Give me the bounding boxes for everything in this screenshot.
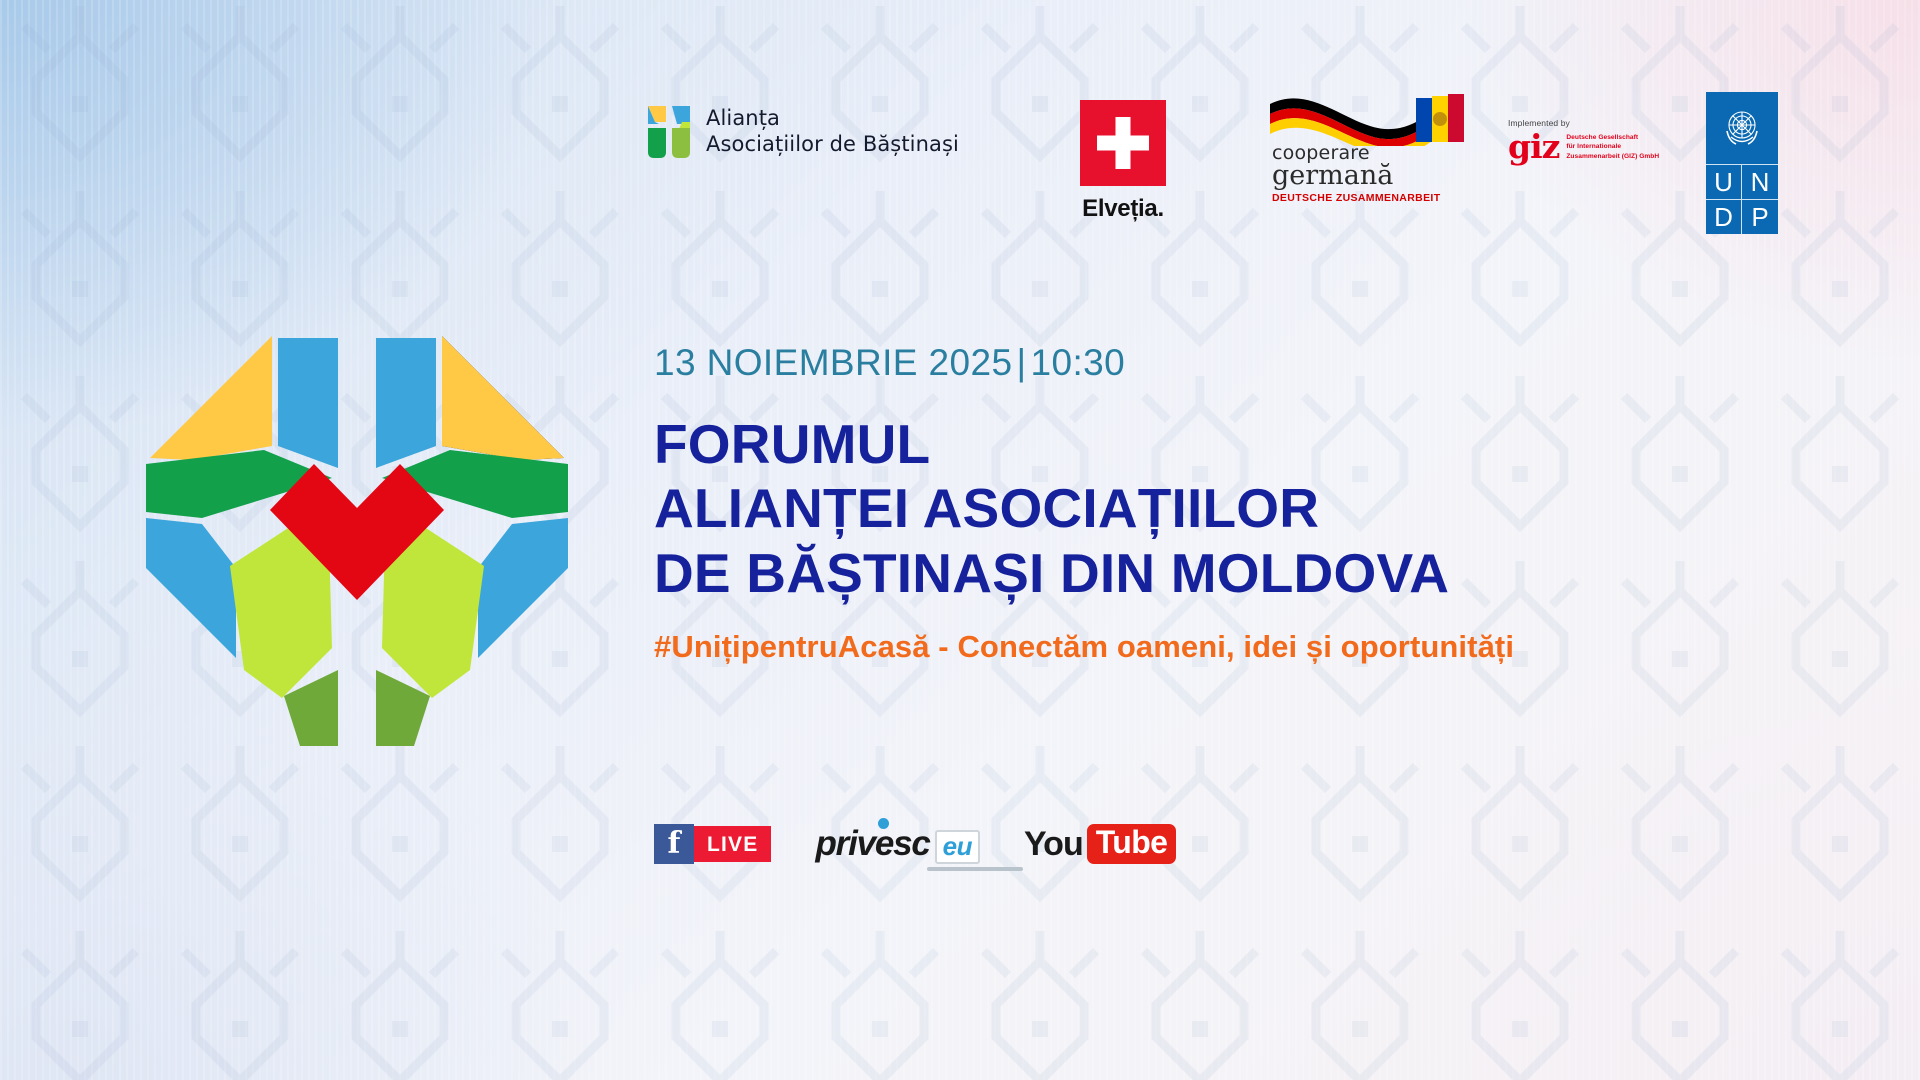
heart-emblem-icon <box>132 318 582 748</box>
page-title: FORUMUL ALIANȚEI ASOCIAȚIILOR DE BĂȘTINA… <box>654 412 1874 605</box>
streaming-platforms: f LIVE privesc eu You Tube <box>654 824 1176 864</box>
facebook-icon: f <box>654 824 694 864</box>
event-date: 13 NOIEMBRIE 2025 <box>654 342 1012 383</box>
swiss-flag-icon <box>1080 100 1166 186</box>
undp-letter-u: U <box>1706 164 1742 199</box>
switzerland-logo[interactable]: Elveția. <box>1080 100 1166 223</box>
title-line-2: ALIANȚEI ASOCIAȚIILOR <box>654 476 1874 540</box>
giz-sub-3: Zusammenarbeit (GIZ) GmbH <box>1566 152 1659 161</box>
giz-sub-2: für Internationale <box>1566 142 1659 151</box>
giz-subtitle: Deutsche Gesellschaft für Internationale… <box>1566 133 1659 161</box>
youtube-tube-badge: Tube <box>1087 824 1177 864</box>
poster-canvas: Alianța Asociațiilor de Băștinași Elveți… <box>0 0 1920 1080</box>
facebook-live-logo[interactable]: f LIVE <box>654 824 771 864</box>
undp-logo[interactable]: U N D P <box>1706 92 1778 234</box>
german-moldovan-flag-ribbon-icon <box>1266 90 1466 146</box>
aab-line-2: Asociațiilor de Băștinași <box>706 131 959 157</box>
event-tagline: #UnițipentruAcasă - Conectăm oameni, ide… <box>654 629 1874 665</box>
alianta-asociatiilor-de-bastinasi-logo[interactable]: Alianța Asociațiilor de Băștinași <box>646 102 959 160</box>
privesc-eu-logo[interactable]: privesc eu <box>815 824 980 864</box>
privesc-wordmark: privesc <box>815 824 929 864</box>
german-cooperation-logo[interactable]: cooperare germană DEUTSCHE ZUSAMMENARBEI… <box>1266 90 1466 204</box>
title-line-1: FORUMUL <box>654 412 1874 476</box>
heart-emblem <box>132 318 582 748</box>
privesc-eu-badge: eu <box>935 830 980 864</box>
datetime-separator: | <box>1012 342 1030 383</box>
privesc-laptop-base-icon <box>927 867 1023 871</box>
switzerland-label: Elveția. <box>1080 195 1166 223</box>
youtube-you-text: You <box>1024 825 1083 864</box>
title-line-3: DE BĂȘTINAȘI DIN MOLDOVA <box>654 541 1874 605</box>
german-coop-line-3: DEUTSCHE ZUSAMMENARBEIT <box>1272 192 1466 204</box>
event-datetime: 13 NOIEMBRIE 2025|10:30 <box>654 342 1874 384</box>
undp-letter-n: N <box>1742 164 1778 199</box>
facebook-live-badge: LIVE <box>694 826 771 862</box>
youtube-logo[interactable]: You Tube <box>1024 824 1176 864</box>
aab-mark-icon <box>646 102 692 160</box>
aab-logo-text: Alianța Asociațiilor de Băștinași <box>706 105 959 158</box>
german-coop-line-2: germană <box>1272 162 1466 190</box>
giz-logo[interactable]: Implemented by giz Deutsche Gesellschaft… <box>1508 118 1659 162</box>
undp-letter-d: D <box>1706 199 1742 234</box>
event-time: 10:30 <box>1030 342 1125 383</box>
partner-logos: Alianța Asociațiilor de Băștinași Elveți… <box>646 78 1826 218</box>
event-details: 13 NOIEMBRIE 2025|10:30 FORUMUL ALIANȚEI… <box>654 342 1874 665</box>
undp-letter-p: P <box>1742 199 1778 234</box>
giz-sub-1: Deutsche Gesellschaft <box>1566 133 1659 142</box>
giz-wordmark: giz <box>1508 132 1559 162</box>
undp-letters: U N D P <box>1706 164 1778 234</box>
united-nations-emblem-icon <box>1706 92 1778 164</box>
aab-line-1: Alianța <box>706 105 959 131</box>
